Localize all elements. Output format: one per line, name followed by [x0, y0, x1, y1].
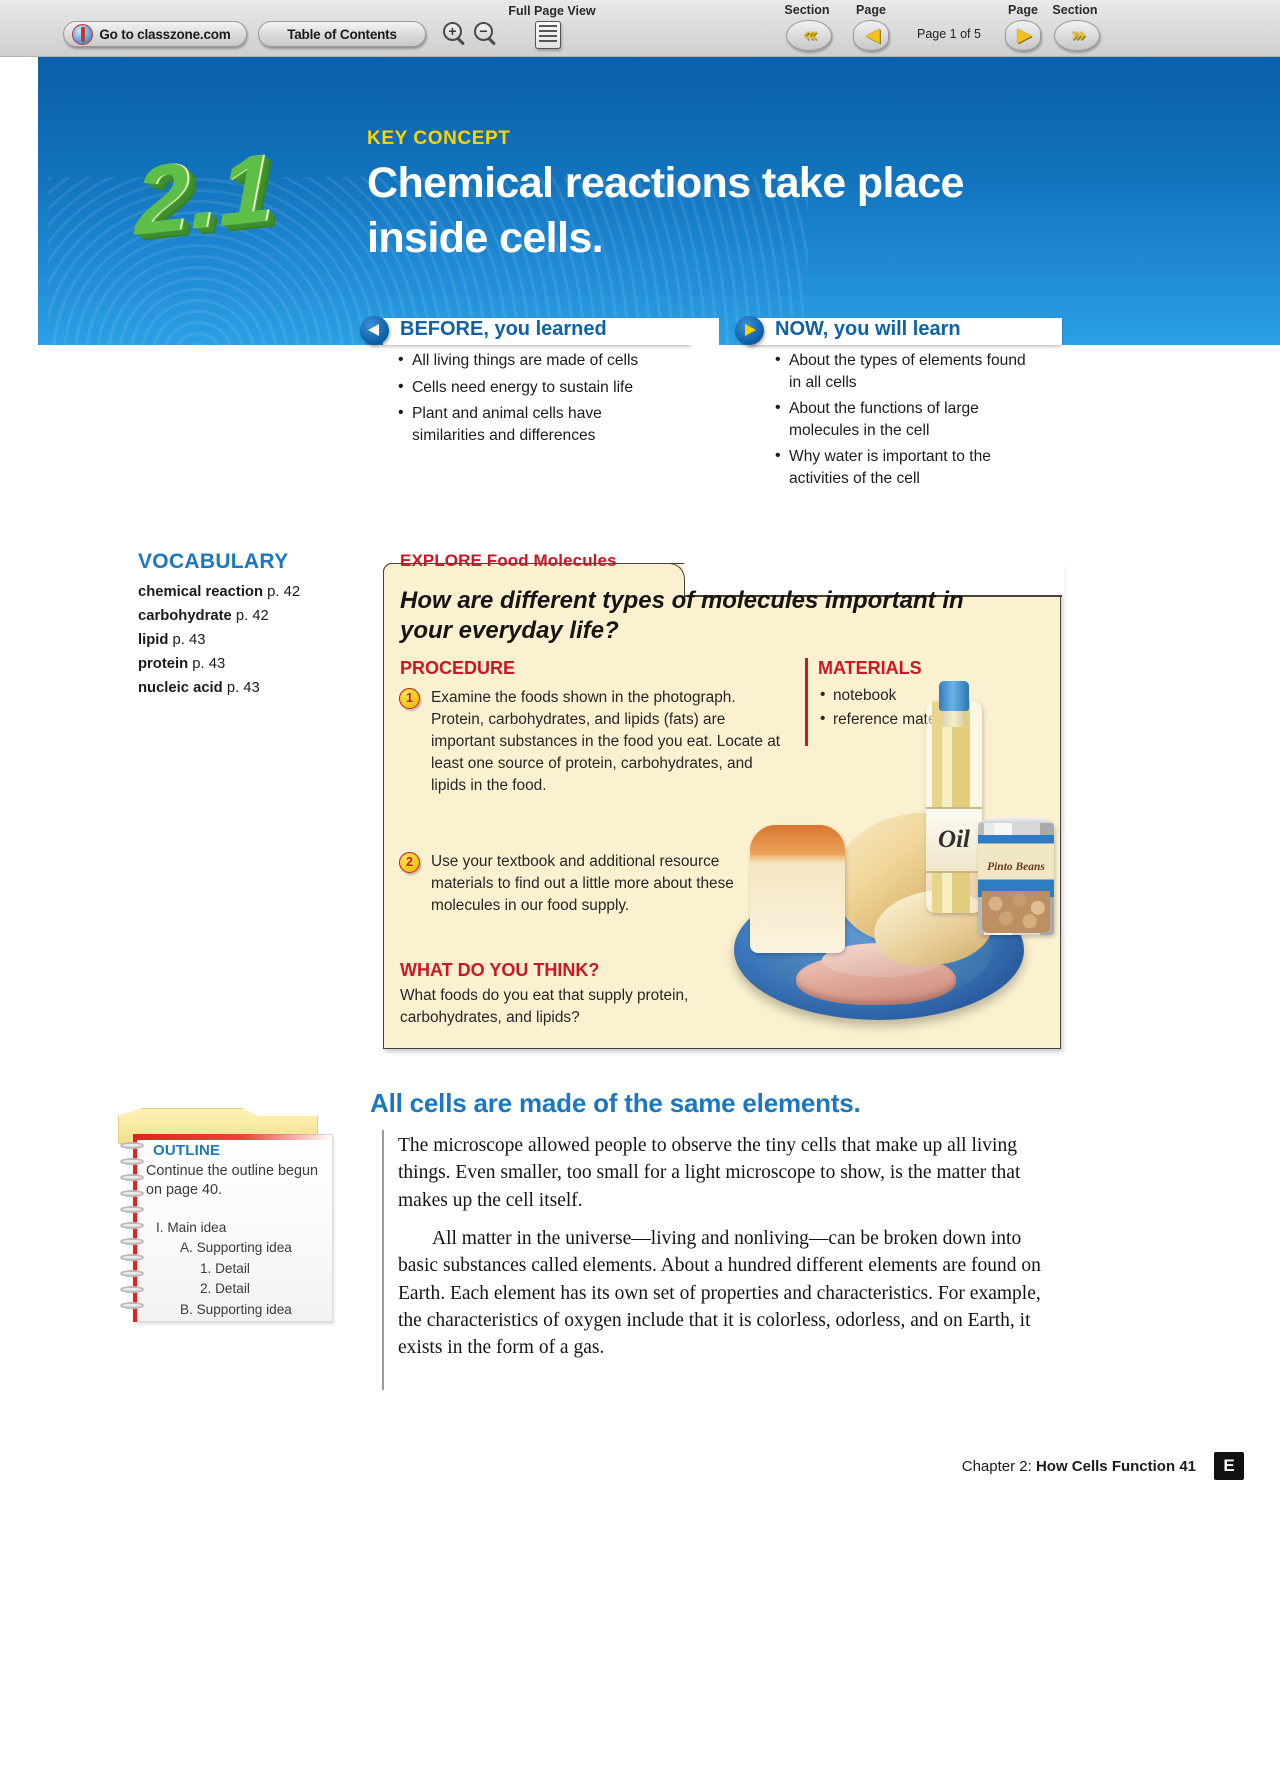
now-heading-rest: you will learn — [828, 318, 960, 340]
list-item: Plant and animal cells have similarities… — [398, 403, 658, 446]
oil-bottle-label: Oil — [926, 807, 982, 873]
magnifier-handle — [456, 36, 465, 45]
notebook-red-bar — [133, 1134, 333, 1140]
list-item: About the functions of large molecules i… — [775, 398, 1035, 441]
section-next-label: Section — [1040, 3, 1110, 17]
vocabulary-term: chemical reaction — [138, 584, 263, 600]
full-page-view-label: Full Page View — [504, 4, 600, 18]
vocabulary-term: protein — [138, 656, 188, 672]
zoom-out-icon[interactable]: − — [474, 22, 499, 47]
oil-bottle-cap — [939, 681, 969, 711]
list-item: nucleic acid p. 43 — [138, 677, 363, 701]
vocabulary-page: p. 43 — [192, 656, 225, 672]
step-number-badge: 1 — [399, 688, 420, 709]
footer-chapter-prefix: Chapter 2: — [962, 1458, 1036, 1475]
outline-title: OUTLINE — [153, 1142, 220, 1159]
arrow-left-icon — [360, 316, 389, 345]
explore-label: EXPLORE Food Molecules — [400, 551, 617, 571]
table-of-contents-button[interactable]: Table of Contents — [258, 21, 426, 47]
list-item: Why water is important to the activities… — [775, 446, 1035, 489]
vocabulary-term: carbohydrate — [138, 608, 232, 624]
key-concept-label: KEY CONCEPT — [367, 128, 511, 150]
section-heading: All cells are made of the same elements. — [370, 1088, 1050, 1119]
double-chevron-right-icon: ›» — [1072, 26, 1083, 45]
list-item: A. Supporting idea — [156, 1238, 331, 1258]
notebook-spiral-binding — [120, 1142, 146, 1312]
triangle-left-icon: ◀ — [865, 26, 877, 45]
previous-page-button[interactable]: ◀ — [853, 20, 889, 51]
footer-chapter-title: How Cells Function — [1036, 1458, 1175, 1475]
vocabulary-page: p. 42 — [236, 608, 269, 624]
page-line — [539, 30, 557, 32]
vocabulary-term: nucleic acid — [138, 680, 223, 696]
double-chevron-left-icon: «‹ — [804, 26, 815, 45]
page-line — [539, 35, 557, 37]
outline-description: Continue the outline begun on page 40. — [146, 1162, 321, 1201]
next-section-button[interactable]: ›» — [1054, 20, 1100, 51]
step-text: Use your textbook and additional resourc… — [431, 853, 734, 914]
what-do-you-think-text: What foods do you eat that supply protei… — [400, 985, 740, 1029]
before-heading-strong: BEFORE, — [400, 318, 489, 340]
procedure-label: PROCEDURE — [400, 658, 515, 679]
vocabulary-title: VOCABULARY — [138, 550, 288, 574]
step-number-badge: 2 — [399, 852, 420, 873]
page-indicator: Page 1 of 5 — [905, 27, 993, 41]
list-item: chemical reaction p. 42 — [138, 581, 363, 605]
magnifier-handle — [487, 36, 496, 45]
list-item: B. Supporting idea — [156, 1300, 331, 1320]
section-prev-label: Section — [772, 3, 842, 17]
materials-label: MATERIALS — [818, 658, 922, 679]
list-item: carbohydrate p. 42 — [138, 605, 363, 629]
reader-toolbar: Go to classzone.com Table of Contents + … — [0, 0, 1280, 57]
triangle-right-icon: ▶ — [1017, 26, 1029, 45]
list-item: About the types of elements found in all… — [775, 350, 1035, 393]
outline-notebook: OUTLINE Continue the outline begun on pa… — [118, 1100, 333, 1330]
page-prev-label: Page — [836, 3, 906, 17]
now-heading: NOW, you will learn — [775, 318, 961, 341]
zoom-in-icon[interactable]: + — [443, 22, 468, 47]
previous-section-button[interactable]: «‹ — [786, 20, 832, 51]
globe-icon — [72, 24, 93, 45]
vocabulary-term: lipid — [138, 632, 168, 648]
full-page-view-icon[interactable] — [535, 21, 561, 49]
bread-slice — [750, 825, 845, 953]
list-item: Cells need energy to sustain life — [398, 377, 658, 399]
page-line — [539, 40, 557, 42]
food-photograph: Oil Pinto Beans — [726, 695, 1056, 1040]
vocabulary-page: p. 43 — [173, 632, 206, 648]
zoom-out-sign: − — [478, 25, 490, 38]
pinto-beans — [982, 891, 1050, 933]
vocabulary-list: chemical reaction p. 42 carbohydrate p. … — [138, 581, 363, 701]
zoom-in-sign: + — [447, 25, 459, 38]
now-list: About the types of elements found in all… — [775, 350, 1035, 494]
can-label-text: Pinto Beans — [978, 861, 1054, 873]
vocabulary-page: p. 43 — [227, 680, 260, 696]
list-item: I. Main idea — [156, 1218, 331, 1238]
body-paragraph: All matter in the universe—living and no… — [398, 1225, 1054, 1361]
list-item: 2. Detail — [156, 1279, 331, 1299]
unit-badge: E — [1214, 1452, 1244, 1480]
now-heading-strong: NOW, — [775, 318, 828, 340]
list-item: All living things are made of cells — [398, 350, 658, 372]
page-footer: Chapter 2: How Cells Function 41 — [962, 1458, 1196, 1475]
list-item: lipid p. 43 — [138, 629, 363, 653]
body-paragraph: The microscope allowed people to observe… — [398, 1132, 1054, 1214]
before-list: All living things are made of cells Cell… — [398, 350, 658, 451]
before-heading-rest: you learned — [489, 318, 607, 340]
explore-question: How are different types of molecules imp… — [400, 586, 980, 646]
section-number: 2.1 — [135, 133, 274, 258]
list-item: protein p. 43 — [138, 653, 363, 677]
page-title: Chemical reactions take place inside cel… — [367, 156, 1067, 266]
oil-label-text: Oil — [938, 826, 970, 854]
body-vertical-rule — [382, 1130, 384, 1390]
list-item: 1. Detail — [156, 1259, 331, 1279]
arrow-right-icon — [735, 316, 764, 345]
page-line — [539, 25, 557, 27]
go-to-classzone-label: Go to classzone.com — [99, 27, 230, 42]
go-to-classzone-button[interactable]: Go to classzone.com — [63, 21, 247, 47]
next-page-button[interactable]: ▶ — [1005, 20, 1041, 51]
outline-item-list: I. Main idea A. Supporting idea 1. Detai… — [156, 1218, 331, 1320]
what-do-you-think-label: WHAT DO YOU THINK? — [400, 960, 599, 981]
table-of-contents-label: Table of Contents — [287, 27, 397, 42]
before-heading: BEFORE, you learned — [400, 318, 607, 341]
footer-page-number: 41 — [1179, 1458, 1196, 1475]
vocabulary-page: p. 42 — [267, 584, 300, 600]
